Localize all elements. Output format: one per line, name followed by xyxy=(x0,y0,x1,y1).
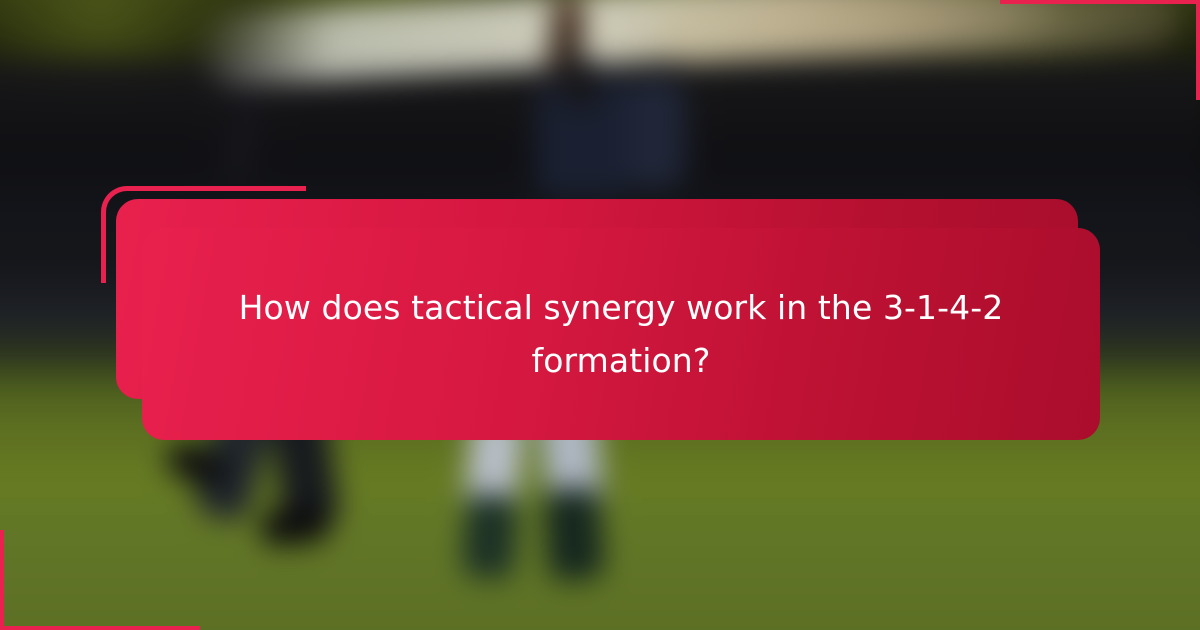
question-card-text-wrap: How does tactical synergy work in the 3-… xyxy=(142,228,1100,440)
screenshot-canvas: How does tactical synergy work in the 3-… xyxy=(0,0,1200,630)
player-right-sock xyxy=(461,492,519,579)
player-right-torso-secondary xyxy=(626,78,686,188)
player-left-head xyxy=(272,70,316,118)
player-right-head xyxy=(556,56,604,108)
player-right-sock xyxy=(543,486,605,582)
question-title: How does tactical synergy work in the 3-… xyxy=(212,281,1030,388)
